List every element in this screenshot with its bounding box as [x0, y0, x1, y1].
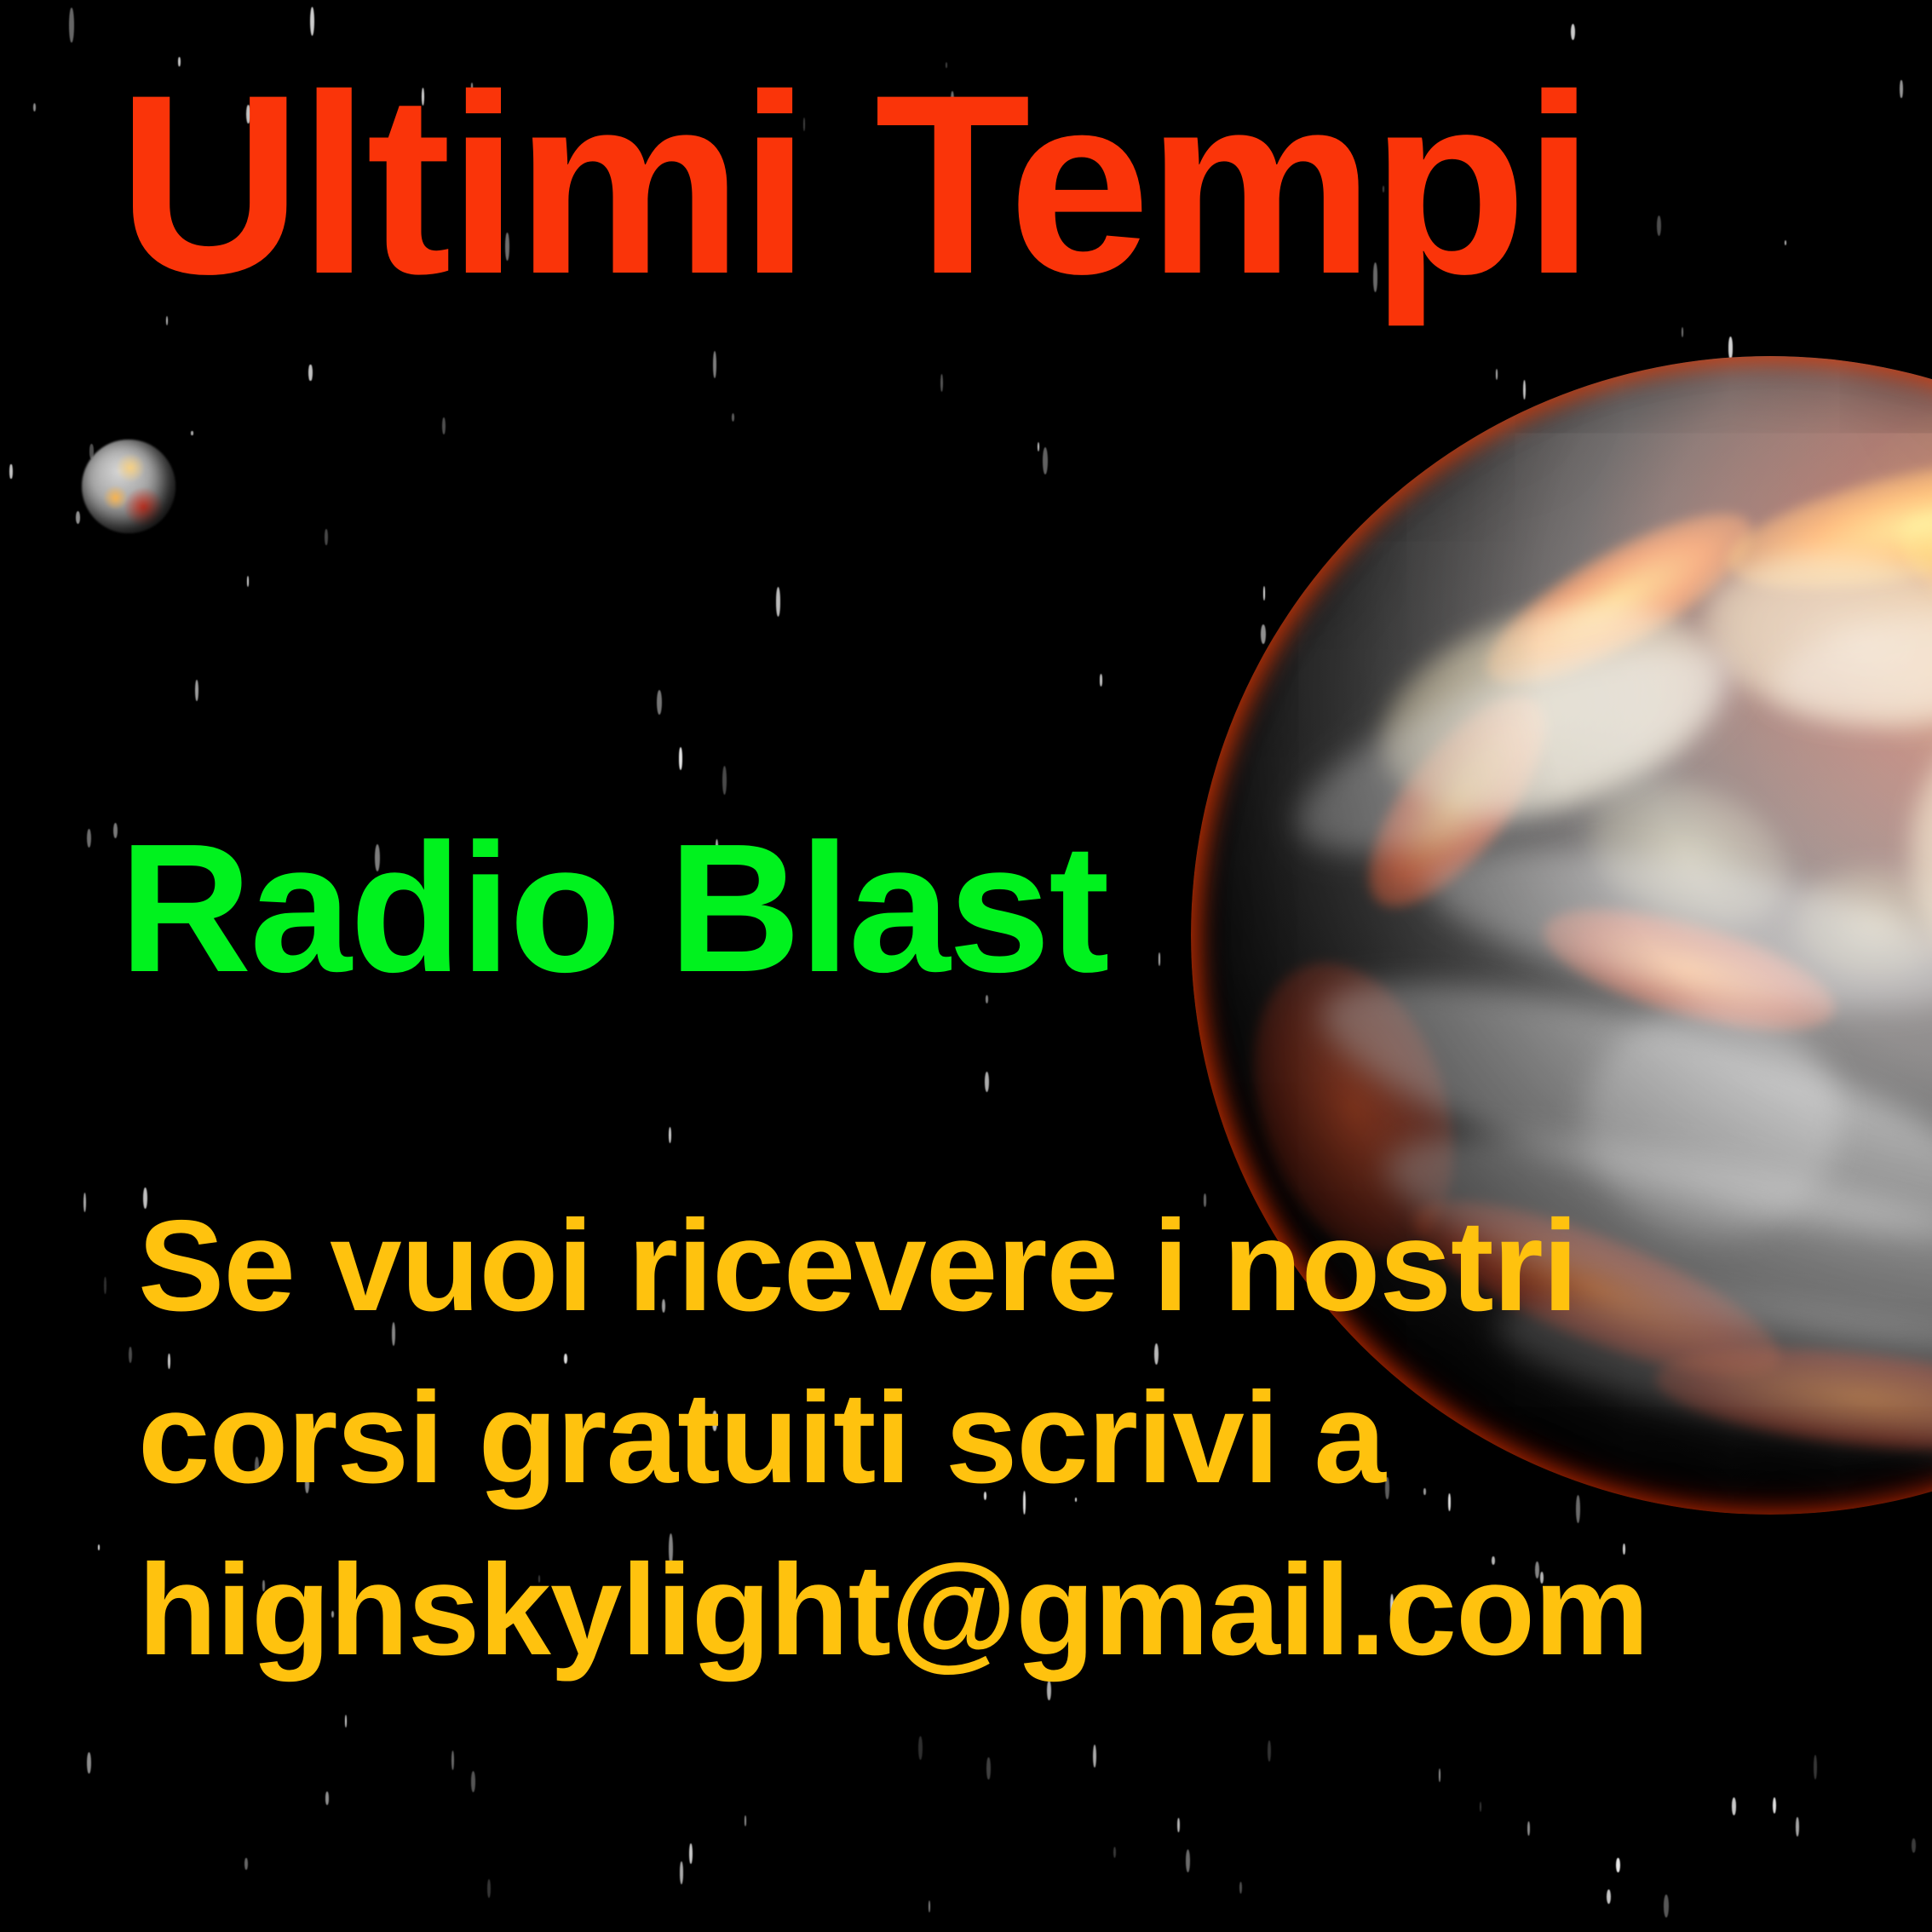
star — [1773, 1797, 1776, 1814]
body-text-line-1: Se vuoi ricevere i nostri — [138, 1201, 1578, 1331]
star — [732, 413, 734, 423]
star — [1419, 664, 1422, 676]
star — [83, 1193, 86, 1212]
star — [689, 1843, 693, 1864]
poster-canvas: Ultimi Tempi Radio Blast Se vuoi ricever… — [0, 0, 1932, 1932]
star — [776, 587, 781, 617]
star — [1920, 946, 1923, 964]
star — [918, 1736, 923, 1760]
star — [669, 1127, 671, 1144]
star — [1047, 1681, 1051, 1700]
star — [1496, 369, 1498, 380]
star — [69, 8, 74, 43]
star — [1738, 1017, 1740, 1035]
star — [1891, 1147, 1895, 1174]
star — [1239, 1882, 1242, 1894]
star — [1177, 1818, 1181, 1832]
star — [442, 417, 446, 434]
star — [1814, 1755, 1817, 1780]
star — [680, 1861, 684, 1885]
star — [1571, 24, 1575, 40]
star — [33, 103, 36, 112]
star — [1762, 1303, 1767, 1337]
star — [1360, 546, 1364, 573]
star — [745, 1815, 747, 1826]
star — [1238, 942, 1241, 959]
star — [1533, 1116, 1537, 1136]
star — [325, 529, 328, 545]
star — [1664, 1895, 1669, 1918]
star — [1423, 1488, 1426, 1495]
star — [1523, 380, 1526, 400]
star — [113, 823, 118, 838]
star — [471, 1771, 475, 1792]
star — [325, 1791, 330, 1805]
star — [87, 829, 91, 848]
body-text-line-2: corsi gratuiti scrivi a — [138, 1373, 1385, 1503]
star — [1043, 447, 1048, 475]
star — [1878, 783, 1883, 798]
star — [1607, 1889, 1611, 1905]
burning-moon-icon — [82, 440, 175, 533]
star — [1439, 1768, 1440, 1782]
star — [1844, 572, 1848, 588]
star — [1338, 783, 1341, 791]
star — [657, 690, 662, 715]
star — [129, 1347, 132, 1363]
star — [191, 431, 193, 436]
star — [986, 1757, 991, 1780]
star — [1576, 1495, 1580, 1524]
star — [1448, 1493, 1452, 1511]
star — [1480, 1802, 1481, 1812]
star — [564, 1354, 567, 1364]
star — [929, 1900, 930, 1912]
contact-email: highskylight@gmail.com — [138, 1545, 1648, 1675]
star — [1154, 1343, 1159, 1366]
star — [1527, 1821, 1530, 1836]
star — [1263, 586, 1265, 601]
star — [9, 464, 12, 480]
star — [1333, 640, 1337, 653]
star — [1159, 952, 1161, 966]
star — [1796, 1817, 1799, 1837]
star — [1926, 852, 1929, 866]
star — [195, 680, 198, 701]
star — [1609, 884, 1614, 906]
star — [1038, 442, 1039, 451]
star — [1693, 1347, 1697, 1361]
star — [1785, 240, 1786, 245]
star — [940, 374, 943, 392]
star — [87, 1752, 91, 1774]
star — [1616, 1858, 1620, 1872]
star — [451, 1751, 454, 1771]
star — [985, 1072, 989, 1092]
star — [310, 7, 314, 37]
star — [713, 351, 716, 378]
star — [1186, 1849, 1190, 1872]
star — [1667, 1102, 1670, 1113]
star — [1824, 1193, 1828, 1210]
star — [1728, 336, 1734, 359]
star — [1113, 1847, 1116, 1858]
star — [1657, 216, 1661, 236]
star — [1900, 80, 1902, 98]
star — [1471, 599, 1475, 621]
star — [247, 576, 250, 587]
star — [1465, 1029, 1467, 1040]
star — [487, 1879, 491, 1898]
star — [1100, 674, 1103, 687]
star — [722, 766, 727, 795]
star — [244, 1858, 248, 1870]
star — [1669, 1305, 1673, 1324]
star — [1283, 1088, 1286, 1103]
star — [104, 1277, 106, 1294]
star — [98, 1544, 100, 1550]
star — [1093, 1745, 1096, 1768]
star — [1752, 1480, 1756, 1502]
star — [1268, 1740, 1271, 1762]
star — [1385, 1477, 1389, 1499]
star — [1337, 710, 1340, 719]
star — [1682, 327, 1683, 337]
star — [308, 365, 312, 382]
star — [1571, 927, 1576, 964]
star — [1870, 1422, 1874, 1443]
show-name: Radio Blast — [119, 816, 1108, 999]
star — [1538, 421, 1542, 432]
page-title: Ultimi Tempi — [118, 56, 1591, 312]
star — [1716, 699, 1719, 710]
star — [1679, 989, 1681, 998]
star — [1470, 503, 1473, 510]
star — [345, 1715, 347, 1728]
star — [1261, 624, 1266, 644]
star — [76, 511, 80, 524]
star — [679, 747, 683, 770]
star — [1912, 1838, 1916, 1852]
star — [1732, 1797, 1737, 1815]
